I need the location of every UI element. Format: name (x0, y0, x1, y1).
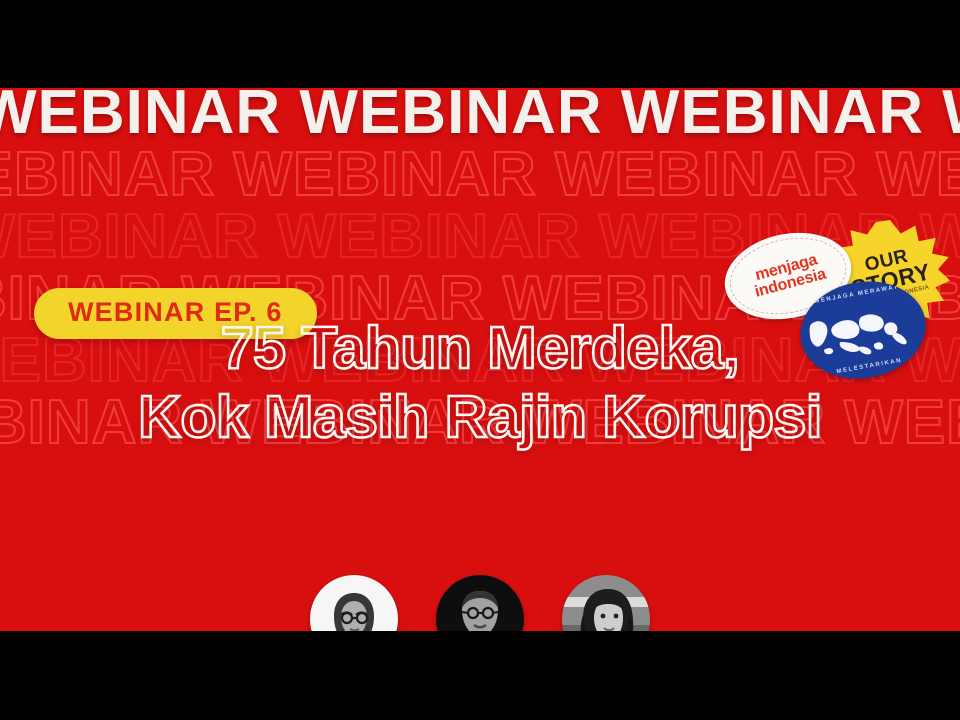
letterbox-bottom (0, 631, 960, 720)
webinar-poster: WEBINAR WEBINAR WEBINAR WEBINAR WEBINAR … (0, 88, 960, 631)
bg-row-2: WEBINAR WEBINAR WEBINAR WEBINAR (0, 144, 960, 206)
video-frame: WEBINAR WEBINAR WEBINAR WEBINAR WEBINAR … (0, 0, 960, 720)
logo-cluster: OUR STORY MENJAGA INDONESIA menjaga indo… (718, 220, 960, 380)
bg-row-1: WEBINAR WEBINAR WEBINAR WEBINAR (0, 88, 960, 144)
speaker-avatars (0, 575, 960, 631)
headline-line-2: Kok Masih Rajin Korupsi (0, 383, 960, 452)
avatar-speaker-one (310, 575, 398, 631)
letterbox-top (0, 0, 960, 88)
avatar-speaker-two (436, 575, 524, 631)
avatar-speaker-three (562, 575, 650, 631)
indonesia-archipelago-icon (804, 293, 922, 367)
